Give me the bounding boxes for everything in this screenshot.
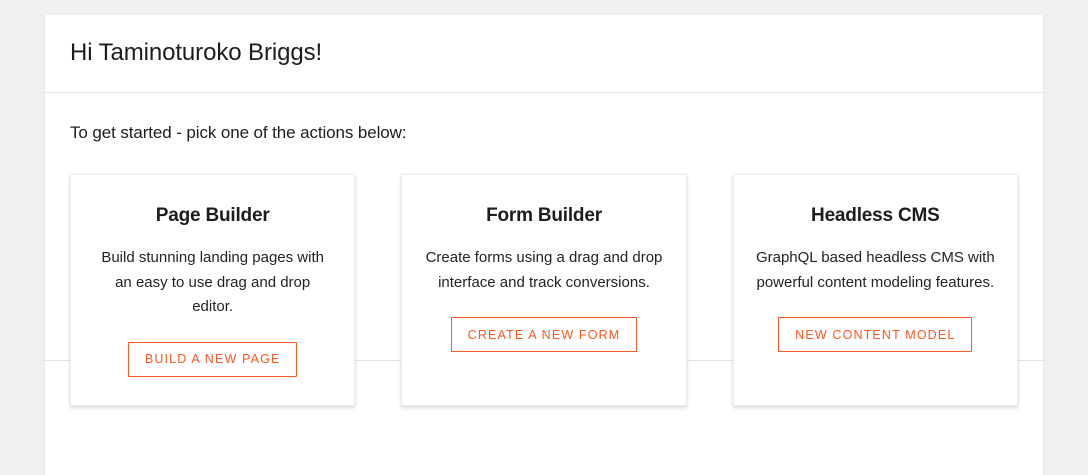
card-title: Headless CMS [811,205,940,227]
panel-header: Hi Taminoturoko Briggs! [45,15,1043,93]
get-started-subtitle: To get started - pick one of the actions… [70,123,1018,143]
action-cards: Page Builder Build stunning landing page… [70,174,1018,406]
card-description: GraphQL based headless CMS with powerful… [756,246,995,295]
card-description: Build stunning landing pages with an eas… [93,246,332,320]
action-card-page-builder[interactable]: Page Builder Build stunning landing page… [70,174,355,406]
new-content-model-button[interactable]: New content model [778,317,972,352]
dashboard-panel: Hi Taminoturoko Briggs! To get started -… [44,15,1044,475]
panel-body: To get started - pick one of the actions… [45,93,1043,361]
card-title: Page Builder [156,205,270,227]
action-card-form-builder[interactable]: Form Builder Create forms using a drag a… [401,174,686,406]
card-title: Form Builder [486,205,602,227]
card-description: Create forms using a drag and drop inter… [424,246,663,295]
create-a-new-form-button[interactable]: Create a new form [451,317,638,352]
page-title: Hi Taminoturoko Briggs! [70,39,322,68]
action-card-headless-cms[interactable]: Headless CMS GraphQL based headless CMS … [733,174,1018,406]
build-a-new-page-button[interactable]: Build a new page [128,342,298,377]
